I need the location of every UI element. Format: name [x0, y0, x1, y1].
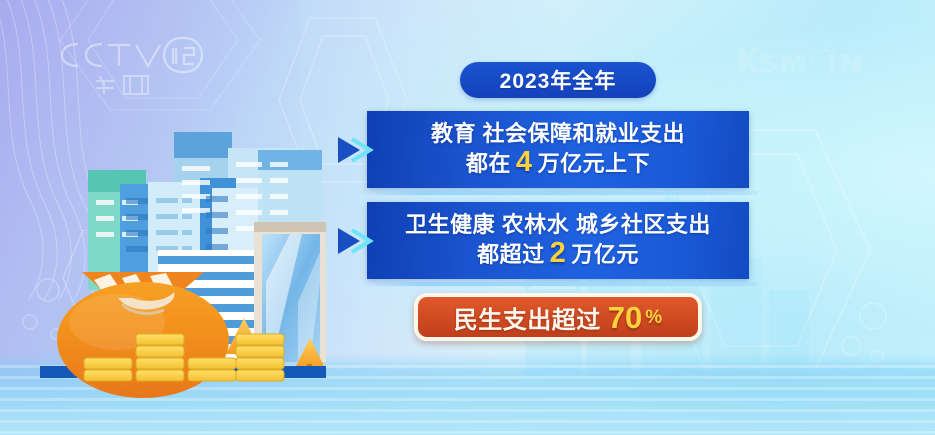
stat-box-1-line2: 都在 4 万亿元上下: [466, 148, 650, 178]
stat-box-2-number: 2: [548, 239, 569, 268]
stats-panel: 2023年全年 教育 社会保障和就业支出 都在 4 万亿元上下: [358, 62, 758, 341]
stat-box-2-line1: 卫生健康 农林水 城乡社区支出: [405, 212, 711, 239]
stat-box-1-underbar: [376, 191, 758, 195]
highlight-text: 民生支出超过: [454, 300, 601, 335]
stat-box-1: 教育 社会保障和就业支出 都在 4 万亿元上下: [367, 111, 749, 188]
stat-box-wrapper-2: 卫生健康 农林水 城乡社区支出 都超过 2 万亿元: [358, 202, 758, 279]
stat-box-1-line1: 教育 社会保障和就业支出: [431, 121, 685, 148]
stat-box-2-underbar: [376, 282, 758, 286]
highlight-number: 70: [608, 302, 642, 333]
stat-box-1-number: 4: [514, 148, 535, 177]
stat-box-1-suffix: 万亿元上下: [538, 151, 651, 178]
right-triangle-arrow-icon-1: [336, 133, 380, 167]
cctv-logo-watermark: [56, 24, 206, 98]
year-title-pill: 2023年全年: [460, 62, 656, 98]
stat-box-1-prefix: 都在: [466, 151, 511, 178]
stat-box-2-suffix: 万亿元: [571, 242, 639, 269]
highlight-pill: 民生支出超过 70 %: [414, 293, 702, 341]
year-title-text: 2023年全年: [500, 65, 617, 95]
stat-box-wrapper-1: 教育 社会保障和就业支出 都在 4 万亿元上下: [358, 111, 758, 188]
stat-box-2-prefix: 都超过: [477, 242, 545, 269]
highlight-percent: %: [645, 308, 662, 327]
stat-box-2-line2: 都超过 2 万亿元: [477, 239, 639, 269]
stat-box-2: 卫生健康 农林水 城乡社区支出 都超过 2 万亿元: [367, 202, 749, 279]
money-bag-city-illustration: [22, 122, 352, 412]
infographic-stage: 2023年全年 教育 社会保障和就业支出 都在 4 万亿元上下: [0, 0, 935, 435]
right-triangle-arrow-icon-2: [336, 224, 380, 258]
